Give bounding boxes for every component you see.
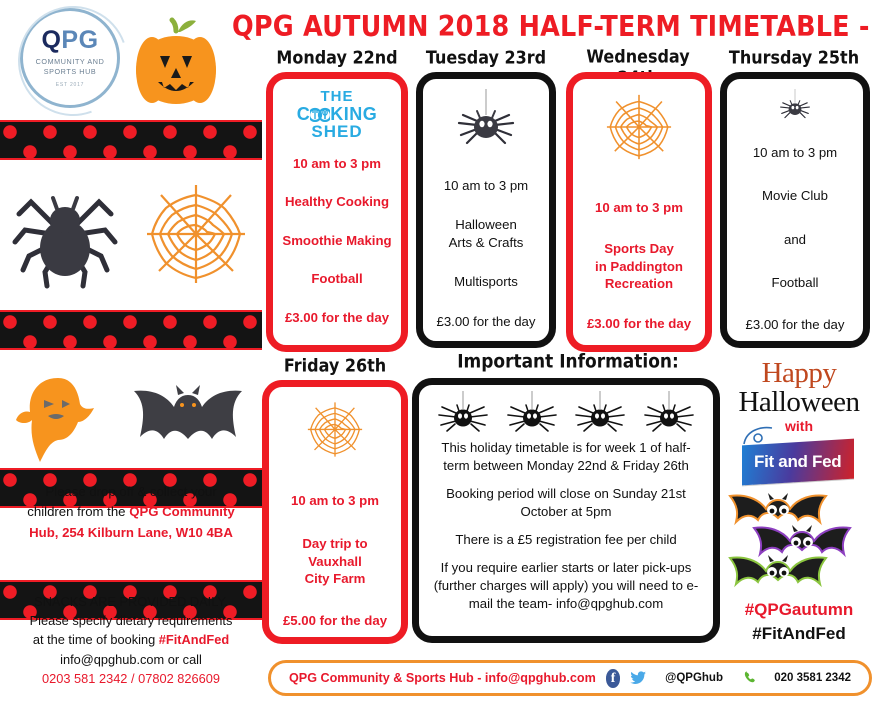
halloween-timetable-poster: QPG COMMUNITY AND SPORTS HUB EST 2017 (0, 0, 876, 701)
dropoff-address: Hub, 254 Kilburn Lane, W10 4BA (29, 525, 233, 540)
wednesday-time: 10 am to 3 pm (579, 199, 699, 216)
spider-web-icon (298, 399, 372, 460)
fit-and-fed-logo-text: Fit and Fed (754, 452, 841, 472)
page-title: QPG AUTUMN 2018 HALF-TERM TIMETABLE - WE… (232, 8, 876, 46)
wednesday-activity-3: Recreation (579, 275, 699, 292)
spider-web-icon (600, 91, 678, 163)
hanging-spider-icon (640, 391, 698, 435)
snacks-line-3: at the time of booking (33, 632, 159, 647)
day-card-friday: 10 am to 3 pm Day trip to Vauxhall City … (262, 380, 408, 644)
qpg-logo-subtitle-line2: SPORTS HUB (44, 67, 97, 76)
phone-icon (743, 668, 758, 688)
bat-trio-graphic (726, 492, 872, 594)
friday-time: 10 am to 3 pm (275, 492, 395, 509)
thursday-price: £3.00 for the day (733, 316, 857, 333)
snacks-phone-numbers: 0203 581 2342 / 07802 826609 (42, 671, 220, 686)
wednesday-price: £3.00 for the day (579, 315, 699, 332)
snacks-email: info@qpghub.com or call (60, 652, 202, 667)
thursday-activity-3: Football (733, 274, 857, 291)
qpg-logo-pg: PG (61, 26, 98, 54)
spider-icon (11, 176, 119, 292)
happy-halloween-graphic: Happy Halloween (722, 360, 876, 416)
qpg-logo-est: EST 2017 (56, 82, 85, 88)
day-card-tuesday: 10 am to 3 pm Halloween Arts & Crafts Mu… (416, 72, 556, 348)
info-paragraph-2: Booking period will close on Sunday 21st… (429, 485, 703, 521)
day-label-tuesday: Tuesday 23rd (416, 47, 556, 68)
qpg-logo-letters: QPG (41, 28, 98, 53)
left-sidebar: QPG COMMUNITY AND SPORTS HUB EST 2017 (0, 0, 262, 701)
thursday-activity-1: Movie Club (733, 187, 857, 204)
monday-time: 10 am to 3 pm (279, 155, 395, 172)
thursday-activity-2: and (733, 231, 857, 248)
qpg-logo-subtitle-line1: COMMUNITY AND (36, 57, 105, 66)
decorative-icon-row-ghost-bat (0, 374, 262, 466)
dropoff-info-text: Please drop off & collect your children … (6, 482, 256, 543)
info-spider-row (429, 391, 703, 435)
footer-phone-number: 020 3581 2342 (774, 672, 851, 684)
hanging-spider-icon (571, 391, 629, 435)
footer-contact-text: QPG Community & Sports Hub - info@qpghub… (289, 671, 596, 685)
tuesday-price: £3.00 for the day (429, 313, 543, 330)
info-paragraph-4: If you require earlier starts or later p… (429, 559, 703, 613)
bat-icon-green (726, 554, 830, 594)
day-card-monday: THE CKING SHED 10 am to 3 pm Healthy Coo… (266, 72, 408, 352)
monday-activity-1: Healthy Cooking (279, 193, 395, 210)
important-information-heading: Important Information: (418, 351, 718, 373)
cooking-shed-line-2: CKING (297, 105, 378, 124)
qpg-logo-q: Q (41, 26, 61, 54)
info-paragraph-1: This holiday timetable is for week 1 of … (429, 439, 703, 475)
snacks-line-1: SNACKS ARE PROVIDED DAILY. (34, 594, 228, 609)
pumpkin-icon (132, 16, 220, 108)
fit-and-fed-logo: Fit and Fed (742, 439, 854, 486)
monday-activity-2: Smoothie Making (279, 232, 395, 249)
day-label-monday: Monday 22nd (266, 47, 408, 68)
dropoff-venue-name: QPG Community (129, 504, 235, 519)
logo-row: QPG COMMUNITY AND SPORTS HUB EST 2017 (0, 0, 262, 118)
wednesday-activity-2: in Paddington (579, 258, 699, 275)
facebook-icon[interactable]: f (606, 669, 621, 688)
snacks-info-text: SNACKS ARE PROVIDED DAILY. Please specif… (6, 592, 256, 688)
cooking-shed-logo: THE CKING SHED (297, 89, 378, 141)
hanging-spider-icon (503, 391, 561, 435)
cooking-shed-line-1: THE (321, 89, 354, 105)
hashtag-fitandfed: #FitAndFed (722, 624, 876, 644)
happy-text: Happy (722, 360, 876, 388)
fork-spoon-icon (310, 107, 330, 122)
important-information-panel: This holiday timetable is for week 1 of … (412, 378, 720, 643)
tuesday-activity-2: Arts & Crafts (429, 234, 543, 251)
wednesday-activity-1: Sports Day (579, 240, 699, 257)
bat-icon (128, 381, 248, 459)
monday-price: £3.00 for the day (279, 309, 395, 326)
tuesday-activity-1: Halloween (429, 216, 543, 233)
tuesday-time: 10 am to 3 pm (429, 177, 543, 194)
info-paragraph-3: There is a £5 registration fee per child (429, 531, 703, 549)
friday-activity-2: Vauxhall (275, 553, 395, 570)
hanging-spider-icon (434, 391, 492, 435)
thursday-time: 10 am to 3 pm (733, 144, 857, 161)
monday-activity-3: Football (279, 270, 395, 287)
hashtag-qpgautumn: #QPGautumn (722, 600, 876, 620)
snacks-hashtag: #FitAndFed (159, 632, 229, 647)
polka-dot-band-2 (0, 310, 262, 350)
day-label-thursday: Thursday 25th (718, 47, 870, 68)
qpg-logo: QPG COMMUNITY AND SPORTS HUB EST 2017 (20, 8, 120, 108)
footer-contact-bar: QPG Community & Sports Hub - info@qpghub… (268, 660, 872, 696)
friday-price: £5.00 for the day (275, 612, 395, 629)
day-card-thursday: 10 am to 3 pm Movie Club and Football £3… (720, 72, 870, 348)
polka-dot-band-1 (0, 120, 262, 160)
hanging-spider-icon (447, 89, 525, 151)
friday-activity-3: City Farm (275, 570, 395, 587)
halloween-text: Halloween (722, 388, 876, 416)
dropoff-line-2: children from the (27, 504, 129, 519)
twitter-handle: @QPGhub (665, 672, 723, 684)
day-label-friday: Friday 26th (262, 355, 408, 376)
friday-activity-1: Day trip to (275, 535, 395, 552)
spider-web-icon (141, 179, 251, 289)
cooking-shed-line-3: SHED (311, 123, 362, 141)
day-card-wednesday: 10 am to 3 pm Sports Day in Paddington R… (566, 72, 712, 352)
qpg-logo-subtitle: COMMUNITY AND SPORTS HUB (36, 57, 105, 76)
ghost-icon (14, 374, 100, 466)
hanging-spider-icon (756, 89, 834, 122)
tuesday-activity-3: Multisports (429, 273, 543, 290)
twitter-icon[interactable] (630, 669, 647, 687)
decorative-icon-row-spider-web (0, 164, 262, 304)
dropoff-line-1: Please drop off & collect your (45, 484, 216, 499)
snacks-line-2: Please specify dietary requirements (30, 613, 233, 628)
